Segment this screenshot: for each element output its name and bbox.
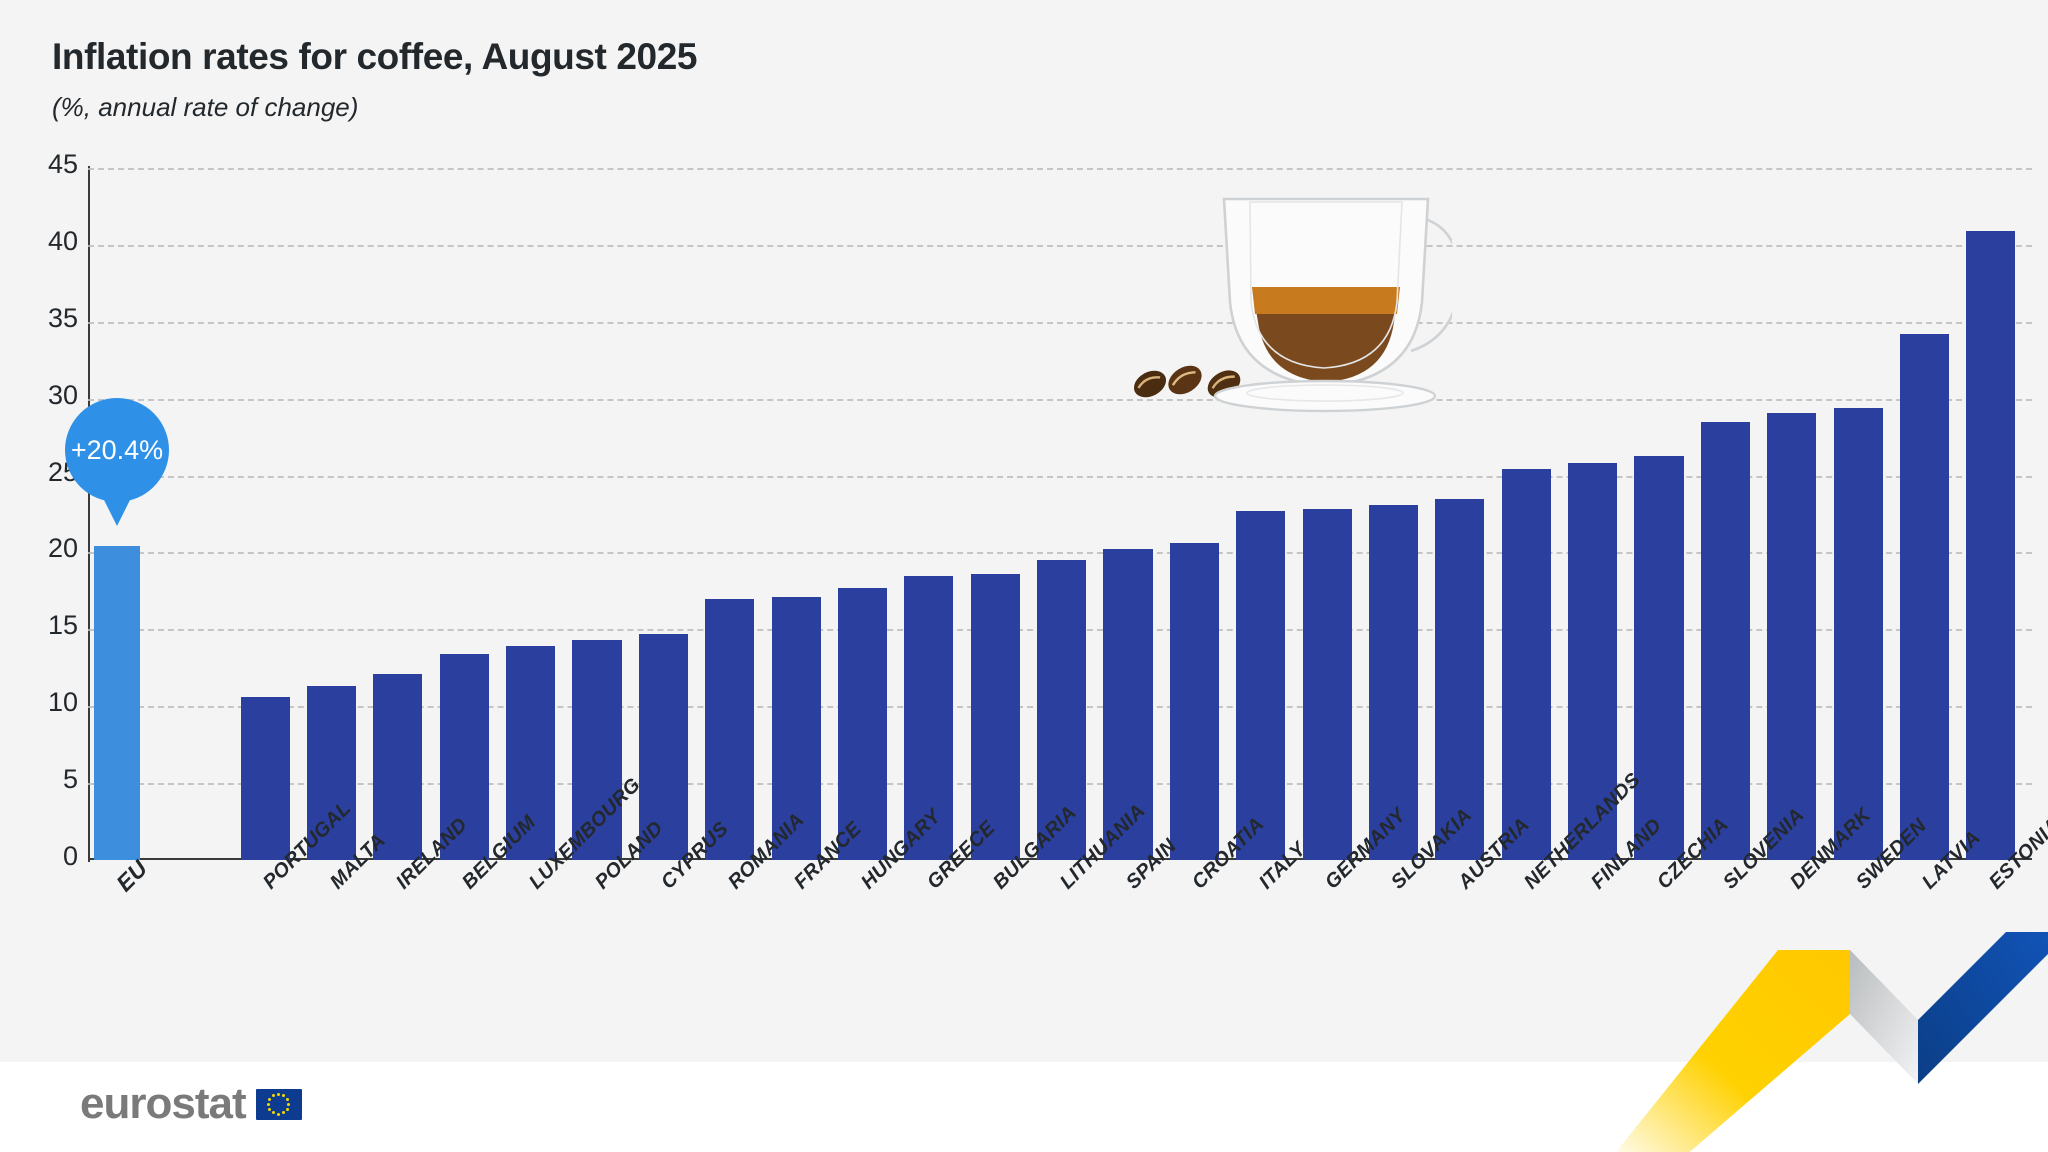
x-axis-label-eu: EU: [111, 855, 153, 897]
eu-callout-badge: +20.4%: [65, 398, 169, 502]
gridline: [88, 168, 2032, 170]
flag-star: [286, 1098, 289, 1101]
y-axis-tick-label: 20: [16, 533, 78, 564]
bar-netherlands[interactable]: [1502, 469, 1551, 860]
bar-latvia[interactable]: [1900, 334, 1949, 860]
chart-subtitle: (%, annual rate of change): [52, 92, 358, 123]
bar-italy[interactable]: [1236, 511, 1285, 860]
bar-hungary[interactable]: [838, 588, 887, 860]
y-axis-tick-label: 30: [16, 380, 78, 411]
bar-croatia[interactable]: [1170, 543, 1219, 860]
flag-star: [277, 1093, 280, 1096]
bar-eu[interactable]: [94, 546, 140, 860]
flag-star: [282, 1094, 285, 1097]
flag-star: [282, 1111, 285, 1114]
y-axis-tick-label: 0: [16, 841, 78, 872]
chart-panel: Inflation rates for coffee, August 2025 …: [0, 0, 2048, 1062]
bar-denmark[interactable]: [1767, 413, 1816, 860]
bar-czechia[interactable]: [1634, 456, 1683, 860]
flag-star: [268, 1098, 271, 1101]
y-axis-tick-label: 40: [16, 226, 78, 257]
bar-sweden[interactable]: [1834, 408, 1883, 860]
bar-ireland[interactable]: [373, 674, 422, 860]
flag-star: [267, 1103, 270, 1106]
bar-portugal[interactable]: [241, 697, 290, 860]
flag-star: [272, 1111, 275, 1114]
bar-germany[interactable]: [1303, 509, 1352, 860]
y-axis-tick-label: 5: [16, 764, 78, 795]
bar-bulgaria[interactable]: [971, 574, 1020, 860]
flag-star: [286, 1108, 289, 1111]
flag-star: [272, 1094, 275, 1097]
y-axis-tick-label: 45: [16, 149, 78, 180]
y-axis-tick-label: 10: [16, 687, 78, 718]
bar-slovenia[interactable]: [1701, 422, 1750, 860]
gridline: [88, 245, 2032, 247]
bar-estonia[interactable]: [1966, 231, 2015, 860]
eu-flag-icon: [256, 1089, 302, 1120]
y-axis-tick-label: 35: [16, 303, 78, 334]
flag-star: [287, 1103, 290, 1106]
eurostat-logo: eurostat: [80, 1082, 302, 1126]
page-title: Inflation rates for coffee, August 2025: [52, 36, 697, 78]
flag-star: [268, 1108, 271, 1111]
flag-star: [277, 1113, 280, 1116]
plot-area: 051015202530354045: [88, 168, 2032, 860]
eurostat-wordmark: eurostat: [80, 1082, 246, 1126]
eurostat-brand-ribbon: [1618, 932, 2048, 1152]
gridline: [88, 399, 2032, 401]
gridline: [88, 322, 2032, 324]
y-axis-tick-label: 15: [16, 610, 78, 641]
coffee-cup-illustration: [1132, 172, 1452, 422]
callout-tail: [104, 500, 130, 526]
